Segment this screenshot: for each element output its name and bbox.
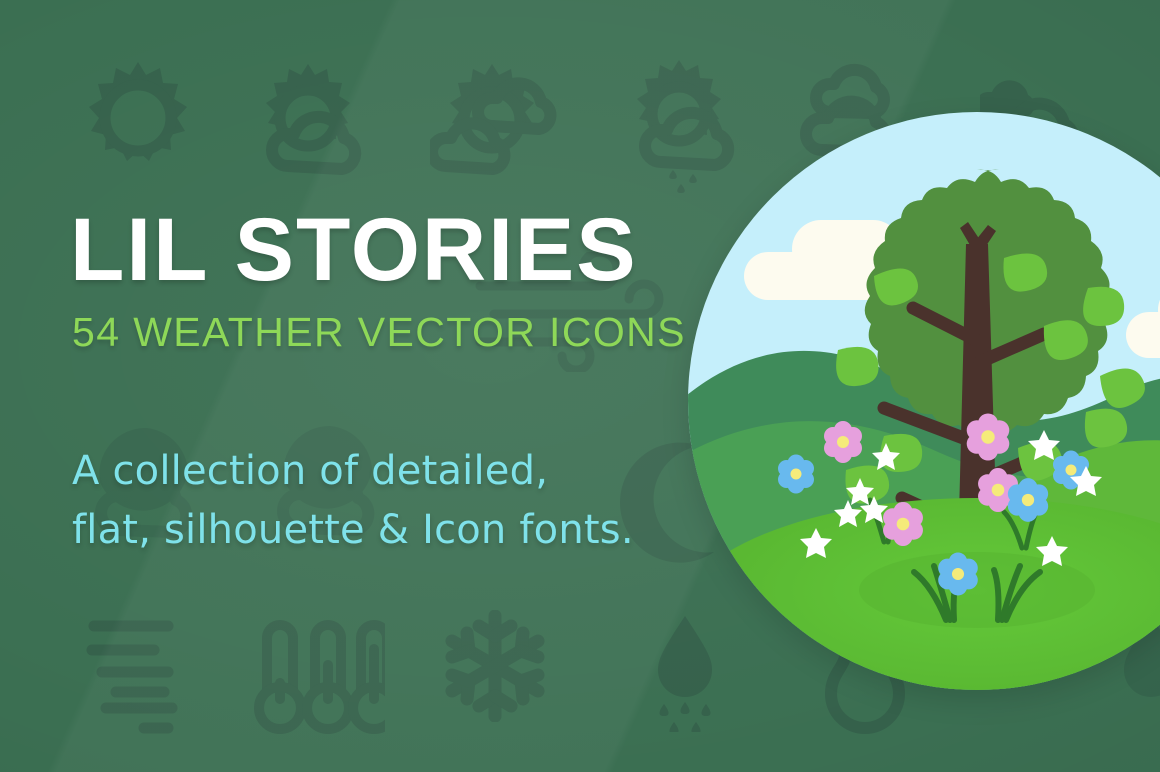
page-title: LIL STORIES [70, 206, 710, 293]
thermometers-icon [245, 616, 385, 746]
sun-between-clouds-icon [430, 60, 560, 180]
tree-landscape-circle [688, 112, 1160, 690]
snowflake-icon [443, 610, 547, 722]
description-line-1: A collection of detailed, [72, 442, 710, 501]
description: A collection of detailed, flat, silhouet… [72, 442, 710, 560]
sun-icon [78, 58, 198, 178]
poster-canvas: LIL STORIES 54 WEATHER VECTOR ICONS A co… [0, 0, 1160, 772]
description-line-2: flat, silhouette & Icon fonts. [72, 501, 710, 560]
subtitle: 54 WEATHER VECTOR ICONS [72, 309, 710, 356]
copy-block: LIL STORIES 54 WEATHER VECTOR ICONS A co… [70, 206, 710, 561]
fog-lines-icon [110, 700, 210, 740]
sun-behind-cloud-icon [250, 62, 380, 180]
